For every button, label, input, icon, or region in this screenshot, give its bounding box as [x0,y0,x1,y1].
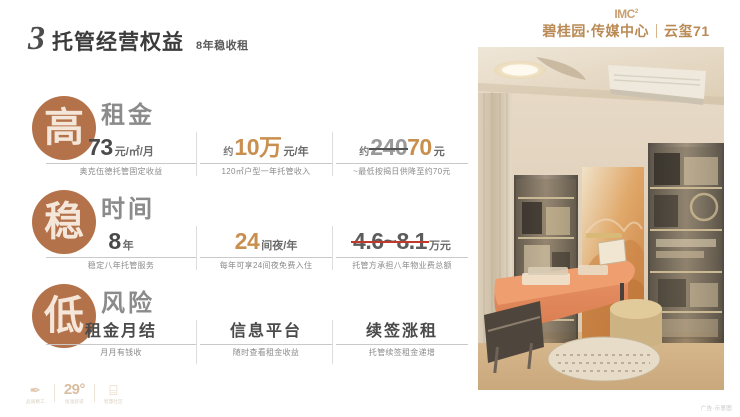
metric-property-fee: 4.6~8.1万元 托管方承担八年物业费总额 [336,230,468,271]
page-title: 托管经营权益 [52,32,184,53]
metric-value: 70 [407,134,432,160]
metric-unit: 间夜/年 [261,240,297,252]
temperature-value: 29° [64,382,85,397]
metric-caption: 托管续签租金递增 [336,349,468,358]
metric-value: 租金月结 [85,323,157,340]
metric-rule [336,344,468,345]
benefit-row-rent: 高 租金 73元/㎡/月 奥克伍德托管固定收益 约10万元/年 120㎡户型一年… [0,92,470,186]
row-label-duration: 时间 [101,198,155,222]
row-label-rent: 租金 [101,104,155,128]
metric-renewal-increase: 续签涨租 托管续签租金递增 [336,324,468,358]
benefits-list: 高 租金 73元/㎡/月 奥克伍德托管固定收益 约10万元/年 120㎡户型一年… [0,92,470,374]
metric-caption: 托管方承担八年物业费总额 [336,262,468,271]
metric-info-platform: 信息平台 随时查看租金收益 [200,324,332,358]
metric-caption: 月月有钱收 [46,349,196,358]
column-separator [332,320,333,364]
footer-divider [54,384,55,402]
metric-caption: 随时查看租金收益 [200,349,332,358]
metric-caption: 稳定八年托管服务 [46,262,196,271]
footer-icon-smart-community: ⌸ 智慧社区 [104,383,123,405]
metric-rent-rate: 73元/㎡/月 奥克伍德托管固定收益 [46,136,196,177]
brand-logo: IMC2 碧桂园·传媒中心 云玺71 [526,8,726,38]
section-number: 3 [28,22,44,56]
footer-feature-icons: ✒ 品质精工 29° 恒温舒适 ⌸ 智慧社区 [26,382,123,405]
metric-unit: 元/年 [284,146,309,158]
metric-rule [336,257,468,258]
footer-icon-quality: ✒ 品质精工 [26,383,45,405]
row-label-risk: 风险 [101,292,155,316]
page-header: 3 托管经营权益 8年稳收租 [28,22,249,56]
brand-company-name: 碧桂园·传媒中心 [542,24,649,38]
metric-caption: 每年可享24间夜免费入住 [200,262,332,271]
metric-unit: 元/㎡/月 [115,146,154,158]
footer-icon-label: 恒温舒适 [65,399,84,405]
page-subtitle: 8年稳收租 [196,41,249,52]
metric-rule [46,163,196,164]
metric-old-value: 4.6~8.1 [353,228,427,254]
footer-icon-label: 智慧社区 [104,399,123,405]
metric-annual-income: 约10万元/年 120㎡户型一年托管收入 [200,136,332,177]
brand-divider [656,24,657,38]
metric-unit: 万元 [429,240,451,252]
metric-caption: 120㎡户型一年托管收入 [200,168,332,177]
column-separator [196,132,197,176]
metric-value: 续签涨租 [366,323,438,340]
metric-term-years: 8年 稳定八年托管服务 [46,230,196,271]
footer-divider [94,384,95,402]
column-separator [196,320,197,364]
metric-caption: ~最低按揭日供降至约70元 [336,168,468,177]
metric-mortgage-daily: 约24070元 ~最低按揭日供降至约70元 [336,136,468,177]
metric-value: 8 [108,228,120,254]
metric-rule [46,344,196,345]
metric-unit: 年 [123,240,134,252]
metric-rule [46,257,196,258]
metric-prefix: 约 [223,147,233,158]
metric-prefix: 约 [359,147,369,158]
benefit-row-duration: 稳 时间 8年 稳定八年托管服务 24间夜/年 每年可享24间夜免费入住 [0,186,470,280]
metric-rule [200,257,332,258]
metric-free-nights: 24间夜/年 每年可享24间夜免费入住 [200,230,332,271]
column-separator [332,132,333,176]
brand-project-name: 云玺71 [664,24,710,38]
pen-icon: ✒ [30,383,42,397]
metric-unit: 元 [434,146,445,158]
slide-root: 3 托管经营权益 8年稳收租 IMC2 碧桂园·传媒中心 云玺71 高 租金 7… [0,0,740,417]
interior-photo [478,47,724,390]
footer-icon-temperature: 29° 恒温舒适 [64,382,85,405]
metric-rule [200,344,332,345]
metric-rule [200,163,332,164]
column-separator [332,226,333,270]
imc-logo-icon: IMC2 [526,8,726,20]
metric-value: 24 [235,228,260,254]
metric-value: 信息平台 [230,323,302,340]
column-separator [196,226,197,270]
grid-icon: ⌸ [109,383,117,397]
metric-rule [336,163,468,164]
benefit-row-risk: 低 风险 租金月结 月月有钱收 信息平台 随时查看租金收益 续签涨 [0,280,470,374]
metric-value: 10万 [234,134,281,160]
metric-caption: 奥克伍德托管固定收益 [46,168,196,177]
metric-monthly-settlement: 租金月结 月月有钱收 [46,324,196,358]
brand-names: 碧桂园·传媒中心 云玺71 [526,24,726,38]
disclaimer-text: 广告·示意图 [701,404,732,412]
footer-icon-label: 品质精工 [26,399,45,405]
metric-value: 73 [88,134,113,160]
metric-old-value: 240 [370,134,407,160]
